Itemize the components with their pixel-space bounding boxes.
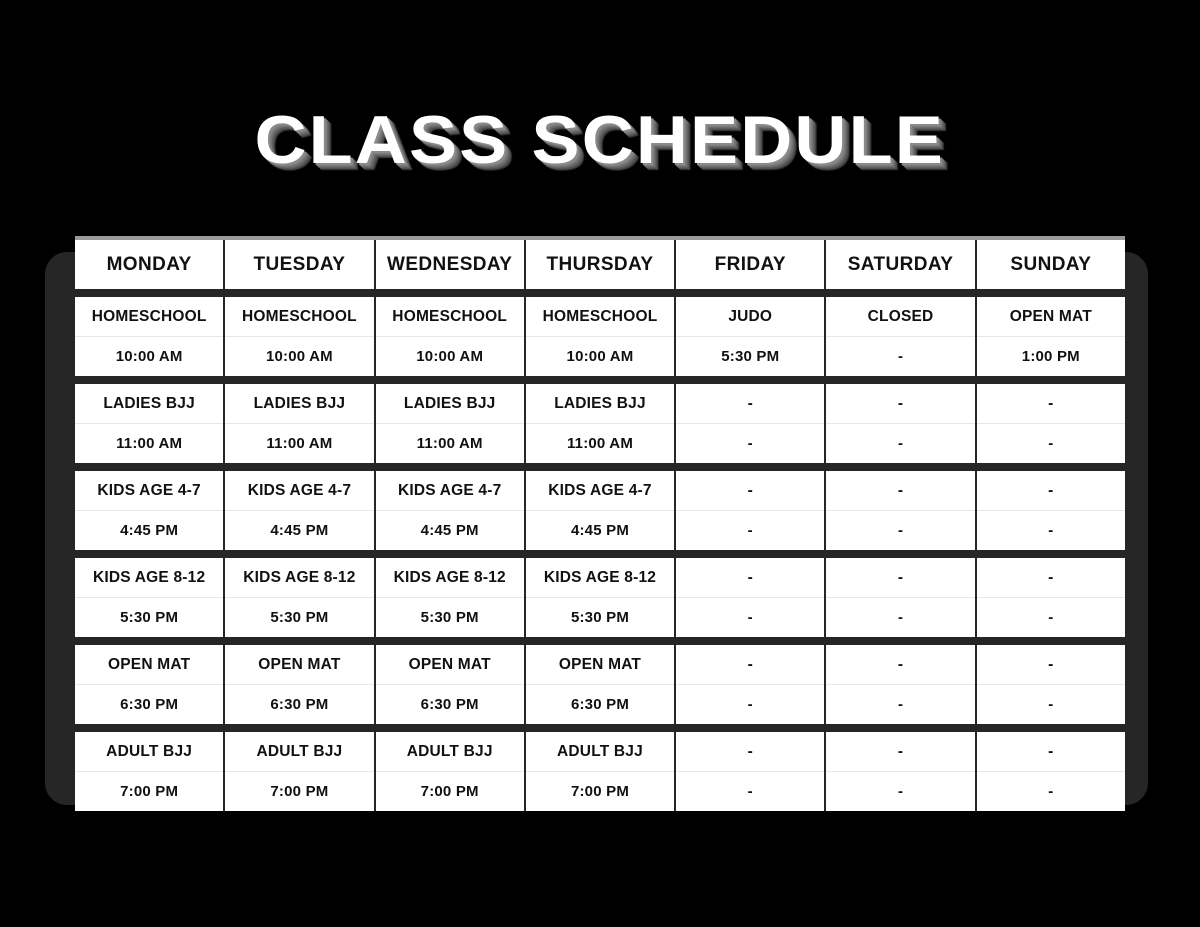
class-time: 7:00 PM [526, 772, 674, 811]
row-separator [75, 637, 1125, 645]
class-name: ADULT BJJ [75, 732, 223, 772]
schedule-cell: OPEN MAT6:30 PM [526, 645, 676, 724]
schedule-cell: HOMESCHOOL10:00 AM [526, 297, 676, 376]
class-name: - [676, 732, 824, 772]
schedule-cell: OPEN MAT6:30 PM [376, 645, 526, 724]
class-name: KIDS AGE 8-12 [225, 558, 373, 598]
class-name: - [977, 732, 1125, 772]
table-row: HOMESCHOOL10:00 AMHOMESCHOOL10:00 AMHOME… [75, 297, 1125, 376]
class-time: 11:00 AM [225, 424, 373, 463]
class-name: KIDS AGE 8-12 [526, 558, 674, 598]
schedule-cell: OPEN MAT1:00 PM [977, 297, 1125, 376]
class-name: HOMESCHOOL [376, 297, 524, 337]
schedule-poster: CLASS SCHEDULE MONDAYTUESDAYWEDNESDAYTHU… [0, 0, 1200, 927]
class-name: - [977, 558, 1125, 598]
schedule-cell: ADULT BJJ7:00 PM [75, 732, 225, 811]
table-row: OPEN MAT6:30 PMOPEN MAT6:30 PMOPEN MAT6:… [75, 645, 1125, 724]
class-name: LADIES BJJ [376, 384, 524, 424]
schedule-cell: -- [977, 558, 1125, 637]
schedule-cell: -- [676, 558, 826, 637]
class-time: 7:00 PM [376, 772, 524, 811]
class-time: 6:30 PM [526, 685, 674, 724]
schedule-cell: -- [676, 471, 826, 550]
class-name: KIDS AGE 4-7 [225, 471, 373, 511]
class-time: 5:30 PM [75, 598, 223, 637]
class-name: - [826, 558, 974, 598]
class-time: 5:30 PM [225, 598, 373, 637]
schedule-cell: -- [676, 732, 826, 811]
schedule-cell: KIDS AGE 4-74:45 PM [526, 471, 676, 550]
table-row: LADIES BJJ11:00 AMLADIES BJJ11:00 AMLADI… [75, 384, 1125, 463]
class-name: - [676, 645, 824, 685]
class-name: - [826, 732, 974, 772]
class-name: KIDS AGE 4-7 [526, 471, 674, 511]
class-name: LADIES BJJ [75, 384, 223, 424]
row-separator [75, 724, 1125, 732]
class-name: - [977, 471, 1125, 511]
class-time: 1:00 PM [977, 337, 1125, 376]
schedule-cell: KIDS AGE 4-74:45 PM [225, 471, 375, 550]
class-time: - [977, 511, 1125, 550]
row-separator [75, 376, 1125, 384]
row-separator [75, 550, 1125, 558]
class-name: - [977, 645, 1125, 685]
class-name: HOMESCHOOL [526, 297, 674, 337]
class-time: 10:00 AM [376, 337, 524, 376]
column-header-monday: MONDAY [75, 240, 225, 289]
class-name: KIDS AGE 8-12 [75, 558, 223, 598]
class-name: CLOSED [826, 297, 974, 337]
schedule-cell: ADULT BJJ7:00 PM [376, 732, 526, 811]
schedule-cell: HOMESCHOOL10:00 AM [225, 297, 375, 376]
schedule-cell: ADULT BJJ7:00 PM [526, 732, 676, 811]
class-time: - [977, 598, 1125, 637]
class-time: 4:45 PM [225, 511, 373, 550]
class-name: KIDS AGE 8-12 [376, 558, 524, 598]
schedule-cell: -- [977, 471, 1125, 550]
schedule-cell: -- [826, 558, 976, 637]
schedule-cell: -- [977, 384, 1125, 463]
class-name: LADIES BJJ [526, 384, 674, 424]
class-time: - [676, 424, 824, 463]
table-header-row: MONDAYTUESDAYWEDNESDAYTHURSDAYFRIDAYSATU… [75, 236, 1125, 289]
class-time: 11:00 AM [376, 424, 524, 463]
schedule-cell: -- [826, 384, 976, 463]
class-time: - [826, 772, 974, 811]
schedule-cell: -- [826, 732, 976, 811]
class-time: 11:00 AM [75, 424, 223, 463]
class-time: 4:45 PM [376, 511, 524, 550]
schedule-cell: -- [977, 732, 1125, 811]
class-time: - [826, 424, 974, 463]
class-name: - [977, 384, 1125, 424]
class-name: HOMESCHOOL [75, 297, 223, 337]
class-name: ADULT BJJ [225, 732, 373, 772]
class-time: 7:00 PM [225, 772, 373, 811]
class-time: 5:30 PM [376, 598, 524, 637]
class-time: 6:30 PM [376, 685, 524, 724]
schedule-cell: KIDS AGE 8-125:30 PM [75, 558, 225, 637]
schedule-cell: KIDS AGE 4-74:45 PM [75, 471, 225, 550]
class-name: KIDS AGE 4-7 [376, 471, 524, 511]
row-separator [75, 463, 1125, 471]
class-name: OPEN MAT [75, 645, 223, 685]
schedule-cell: LADIES BJJ11:00 AM [526, 384, 676, 463]
schedule-cell: OPEN MAT6:30 PM [75, 645, 225, 724]
class-time: - [676, 598, 824, 637]
schedule-cell: -- [826, 471, 976, 550]
class-time: - [977, 685, 1125, 724]
schedule-cell: OPEN MAT6:30 PM [225, 645, 375, 724]
schedule-cell: HOMESCHOOL10:00 AM [75, 297, 225, 376]
column-header-saturday: SATURDAY [826, 240, 976, 289]
column-header-wednesday: WEDNESDAY [376, 240, 526, 289]
class-name: - [826, 645, 974, 685]
page-title: CLASS SCHEDULE [255, 104, 945, 176]
page-title-container: CLASS SCHEDULE [0, 104, 1200, 176]
class-name: - [676, 384, 824, 424]
column-header-thursday: THURSDAY [526, 240, 676, 289]
class-time: 10:00 AM [225, 337, 373, 376]
class-name: HOMESCHOOL [225, 297, 373, 337]
schedule-cell: LADIES BJJ11:00 AM [376, 384, 526, 463]
table-row: KIDS AGE 4-74:45 PMKIDS AGE 4-74:45 PMKI… [75, 471, 1125, 550]
column-header-sunday: SUNDAY [977, 240, 1125, 289]
class-time: 4:45 PM [526, 511, 674, 550]
class-time: 5:30 PM [526, 598, 674, 637]
class-name: - [826, 384, 974, 424]
class-name: OPEN MAT [225, 645, 373, 685]
class-time: 6:30 PM [75, 685, 223, 724]
schedule-cell: -- [676, 384, 826, 463]
schedule-cell: KIDS AGE 8-125:30 PM [376, 558, 526, 637]
class-name: ADULT BJJ [526, 732, 674, 772]
class-name: - [826, 471, 974, 511]
schedule-cell: JUDO5:30 PM [676, 297, 826, 376]
class-time: - [977, 424, 1125, 463]
schedule-cell: -- [676, 645, 826, 724]
class-time: - [977, 772, 1125, 811]
class-time: 6:30 PM [225, 685, 373, 724]
class-time: - [826, 337, 974, 376]
column-header-tuesday: TUESDAY [225, 240, 375, 289]
class-time: 4:45 PM [75, 511, 223, 550]
class-time: - [826, 511, 974, 550]
class-name: - [676, 471, 824, 511]
class-name: - [676, 558, 824, 598]
schedule-cell: CLOSED- [826, 297, 976, 376]
class-name: OPEN MAT [526, 645, 674, 685]
schedule-cell: KIDS AGE 8-125:30 PM [526, 558, 676, 637]
schedule-cell: KIDS AGE 8-125:30 PM [225, 558, 375, 637]
schedule-cell: -- [977, 645, 1125, 724]
class-schedule-table: MONDAYTUESDAYWEDNESDAYTHURSDAYFRIDAYSATU… [75, 236, 1125, 811]
class-time: 10:00 AM [75, 337, 223, 376]
class-name: OPEN MAT [977, 297, 1125, 337]
class-time: - [676, 772, 824, 811]
class-time: - [676, 511, 824, 550]
class-name: LADIES BJJ [225, 384, 373, 424]
class-name: ADULT BJJ [376, 732, 524, 772]
schedule-cell: ADULT BJJ7:00 PM [225, 732, 375, 811]
class-time: 5:30 PM [676, 337, 824, 376]
table-row: ADULT BJJ7:00 PMADULT BJJ7:00 PMADULT BJ… [75, 732, 1125, 811]
class-time: - [676, 685, 824, 724]
schedule-cell: -- [826, 645, 976, 724]
schedule-cell: LADIES BJJ11:00 AM [225, 384, 375, 463]
schedule-cell: KIDS AGE 4-74:45 PM [376, 471, 526, 550]
class-name: OPEN MAT [376, 645, 524, 685]
table-body: HOMESCHOOL10:00 AMHOMESCHOOL10:00 AMHOME… [75, 297, 1125, 811]
schedule-cell: HOMESCHOOL10:00 AM [376, 297, 526, 376]
class-name: KIDS AGE 4-7 [75, 471, 223, 511]
class-name: JUDO [676, 297, 824, 337]
schedule-cell: LADIES BJJ11:00 AM [75, 384, 225, 463]
class-time: 10:00 AM [526, 337, 674, 376]
class-time: 7:00 PM [75, 772, 223, 811]
class-time: - [826, 598, 974, 637]
table-row: KIDS AGE 8-125:30 PMKIDS AGE 8-125:30 PM… [75, 558, 1125, 637]
column-header-friday: FRIDAY [676, 240, 826, 289]
header-body-gap [75, 289, 1125, 297]
class-time: - [826, 685, 974, 724]
class-time: 11:00 AM [526, 424, 674, 463]
